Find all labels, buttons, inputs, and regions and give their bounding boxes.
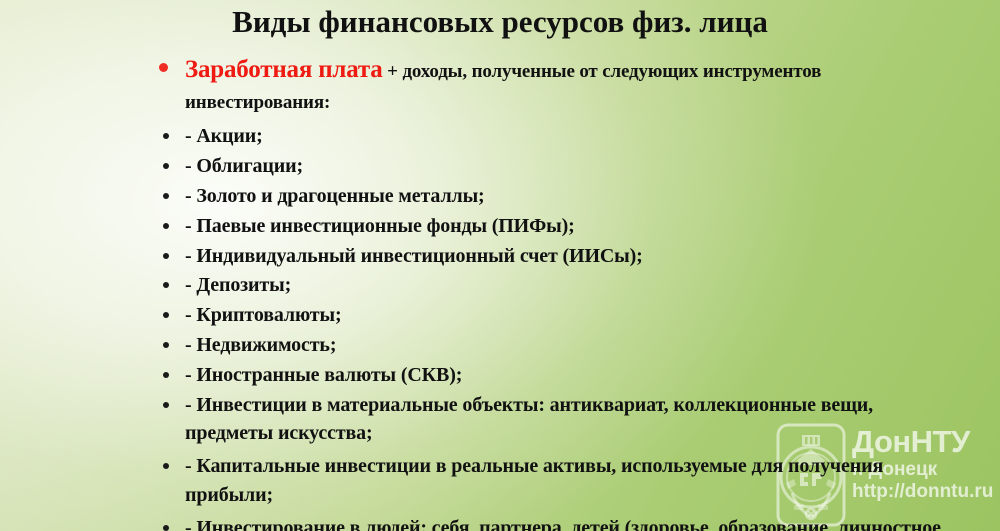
bullet-dot-icon — [163, 282, 169, 288]
slide-content: Виды финансовых ресурсов физ. лица Зараб… — [0, 0, 1000, 531]
bullet-dot-icon — [163, 372, 169, 378]
list-item: - Иностранные валюты (СКВ); — [155, 361, 945, 390]
list-item-lead: Заработная плата + доходы, полученные от… — [155, 52, 945, 116]
list-item-label: - Инвестирование в людей: себя, партнера… — [185, 514, 945, 531]
bullet-list: Заработная плата + доходы, полученные от… — [155, 52, 945, 531]
bullet-dot-icon — [163, 312, 169, 318]
list-item-label: - Иностранные валюты (СКВ); — [185, 361, 945, 390]
list-item-label: - Депозиты; — [185, 271, 945, 300]
list-item-label: - Паевые инвестиционные фонды (ПИФы); — [185, 212, 945, 241]
list-item-label: - Золото и драгоценные металлы; — [185, 182, 945, 211]
list-item-label: - Криптовалюты; — [185, 301, 945, 330]
bullet-dot-icon — [163, 193, 169, 199]
bullet-dot-icon — [163, 402, 169, 408]
list-item: - Недвижимость; — [155, 331, 945, 360]
bullet-dot-icon — [163, 463, 169, 469]
list-item: - Инвестирование в людей: себя, партнера… — [155, 514, 945, 531]
list-item-label: - Недвижимость; — [185, 331, 945, 360]
list-item: - Облигации; — [155, 152, 945, 181]
presentation-slide: ДонНТУ г. Донецк http://donntu.ru Виды ф… — [0, 0, 1000, 531]
highlight-salary: Заработная плата — [185, 56, 383, 83]
list-item-label: - Индивидуальный инвестиционный счет (ИИ… — [185, 242, 945, 271]
bullet-dot-icon — [163, 133, 169, 139]
bullet-dot-icon — [163, 525, 169, 531]
list-item-label: - Акции; — [185, 122, 945, 151]
list-item: - Инвестиции в материальные объекты: ант… — [155, 391, 945, 449]
list-item-lead-text: Заработная плата + доходы, полученные от… — [185, 52, 945, 116]
bullet-dot-icon — [163, 253, 169, 259]
list-item-label: - Капитальные инвестиции в реальные акти… — [185, 452, 945, 510]
list-item-label: - Инвестиции в материальные объекты: ант… — [185, 391, 945, 449]
list-item: - Криптовалюты; — [155, 301, 945, 330]
bullet-dot-icon — [163, 342, 169, 348]
bullet-dot-icon — [163, 223, 169, 229]
list-item: - Паевые инвестиционные фонды (ПИФы); — [155, 212, 945, 241]
list-item: - Депозиты; — [155, 271, 945, 300]
list-item: - Индивидуальный инвестиционный счет (ИИ… — [155, 242, 945, 271]
list-item: - Капитальные инвестиции в реальные акти… — [155, 452, 945, 510]
list-item: - Золото и драгоценные металлы; — [155, 182, 945, 211]
bullet-dot-red-icon — [159, 63, 168, 72]
slide-title: Виды финансовых ресурсов физ. лица — [0, 4, 1000, 40]
list-item-label: - Облигации; — [185, 152, 945, 181]
list-item: - Акции; — [155, 122, 945, 151]
bullet-dot-icon — [163, 163, 169, 169]
